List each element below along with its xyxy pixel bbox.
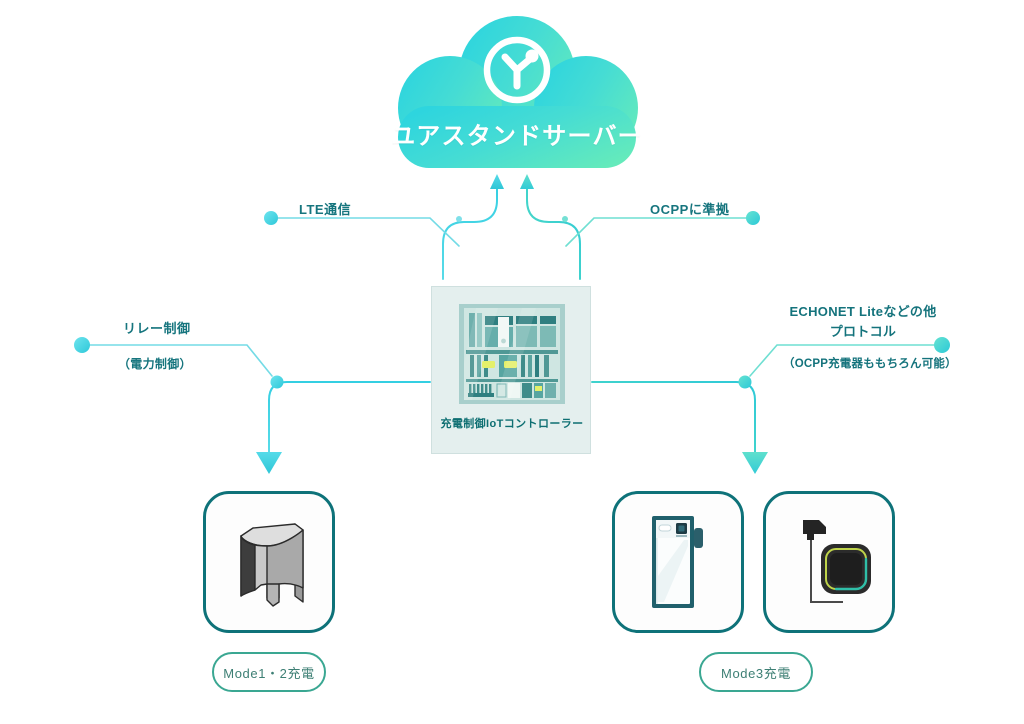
pill-text-mode3: Mode3充電 [721, 663, 791, 682]
connector-ocpp-to-cloud [520, 174, 760, 279]
connector-sublabel-relay: （電力制御） [118, 355, 192, 372]
connector-label-echonet: ECHONET Liteなどの他 プロトコル [788, 302, 938, 342]
ev-charger-pillar-icon [632, 510, 724, 614]
connector-label-ocpp: OCPPに準拠 [650, 199, 729, 218]
control-panel-illustration-wrap [445, 300, 579, 408]
electrical-control-panel-icon [458, 303, 566, 405]
pill-text-mode12: Mode1・2充電 [223, 663, 314, 682]
connector-label-relay: リレー制御 [123, 318, 191, 337]
connector-lte-to-cloud [264, 174, 504, 279]
device-tile-mode3-pillar[interactable] [612, 491, 744, 633]
device-tile-mode12[interactable] [203, 491, 335, 633]
cloud-shape [372, 12, 662, 182]
iot-controller-label: 充電制御IoTコントローラー [432, 415, 592, 431]
portable-charging-box-icon [223, 510, 315, 614]
cloud-server-title: ユアスタンドサーバー [372, 116, 662, 151]
pill-label-mode3[interactable]: Mode3充電 [699, 652, 813, 692]
diagram-canvas: ユアスタンドサーバー [0, 0, 1024, 724]
connector-label-echonet-line2: プロトコル [830, 324, 897, 339]
connector-sublabel-echonet: （OCPP充電器ももちろん可能） [783, 355, 957, 371]
pill-label-mode12[interactable]: Mode1・2充電 [212, 652, 326, 692]
iot-controller-card: 充電制御IoTコントローラー [431, 286, 591, 454]
device-tile-mode3-wallbox[interactable] [763, 491, 895, 633]
wallbox-charger-with-plug-icon [781, 510, 877, 614]
connector-label-lte: LTE通信 [299, 199, 351, 218]
connector-label-echonet-line1: ECHONET Liteなどの他 [789, 304, 936, 319]
cloud-server-node: ユアスタンドサーバー [372, 12, 662, 182]
